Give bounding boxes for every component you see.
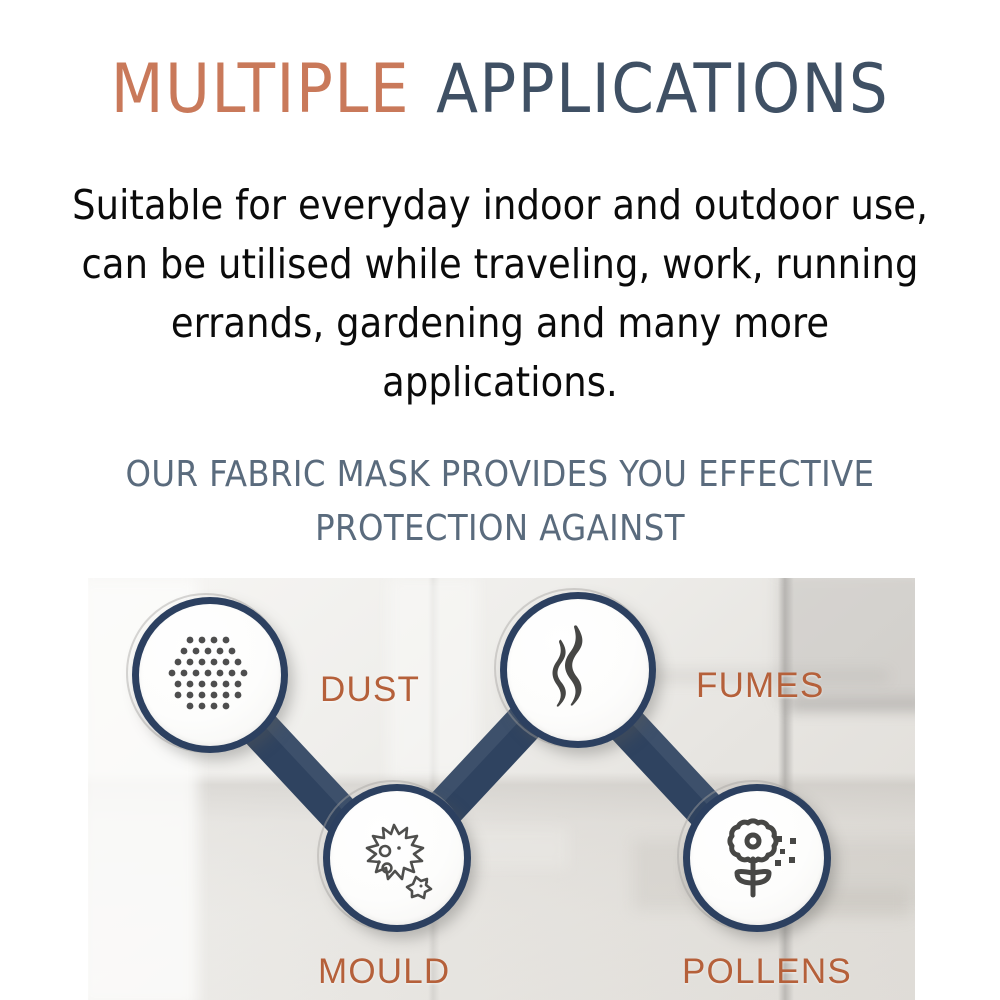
poster-canvas: MULTIPLEAPPLICATIONS Suitable for everyd… bbox=[0, 0, 1000, 1000]
node-disc bbox=[690, 791, 824, 925]
subheading: OUR FABRIC MASK PROVIDES YOU EFFECTIVE P… bbox=[30, 448, 970, 556]
dust-dots-icon bbox=[139, 604, 281, 746]
node-label-dust: DUST bbox=[320, 670, 420, 710]
page-title-word-applications: APPLICATIONS bbox=[436, 50, 889, 129]
flower-pollen-icon bbox=[690, 791, 824, 925]
node-disc bbox=[139, 604, 281, 746]
page-title-word-multiple: MULTIPLE bbox=[111, 50, 410, 129]
node-label-mould: MOULD bbox=[318, 952, 450, 992]
diagram-node-dust[interactable] bbox=[132, 597, 288, 753]
smoke-swirl-icon bbox=[507, 599, 649, 741]
diagram-node-mould[interactable] bbox=[323, 784, 471, 932]
diagram-node-fumes[interactable] bbox=[500, 592, 656, 748]
node-disc bbox=[507, 599, 649, 741]
page-title: MULTIPLEAPPLICATIONS bbox=[0, 56, 1000, 124]
diagram-photo-panel: DUST FUMES MOULD POLLENS bbox=[88, 578, 915, 1000]
mould-spore-icon bbox=[330, 791, 464, 925]
body-paragraph: Suitable for everyday indoor and outdoor… bbox=[48, 176, 952, 412]
node-disc bbox=[330, 791, 464, 925]
diagram-node-pollens[interactable] bbox=[683, 784, 831, 932]
node-label-pollens: POLLENS bbox=[682, 952, 852, 992]
node-label-fumes: FUMES bbox=[696, 666, 825, 706]
